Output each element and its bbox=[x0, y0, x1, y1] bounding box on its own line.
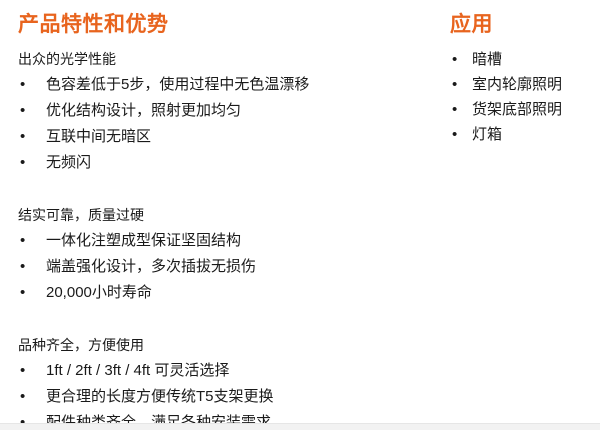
bullet-icon: • bbox=[20, 98, 25, 124]
list-item: • 无频闪 bbox=[18, 150, 428, 176]
bullet-icon: • bbox=[20, 72, 25, 98]
list-item: • 更合理的长度方便传统T5支架更换 bbox=[18, 384, 428, 410]
feature-group-variety: 品种齐全，方便使用 • 1ft / 2ft / 3ft / 4ft 可灵活选择 … bbox=[18, 332, 428, 436]
feature-list-optical: • 色容差低于5步，使用过程中无色温漂移 • 优化结构设计，照射更加均匀 • 互… bbox=[18, 72, 428, 176]
slide-canvas: 产品特性和优势 出众的光学性能 • 色容差低于5步，使用过程中无色温漂移 • 优… bbox=[0, 0, 600, 430]
bullet-icon: • bbox=[20, 228, 25, 254]
list-item-label: 优化结构设计，照射更加均匀 bbox=[46, 102, 241, 119]
list-item-label: 无频闪 bbox=[46, 154, 91, 171]
group-heading: 结实可靠，质量过硬 bbox=[18, 202, 428, 228]
bullet-icon: • bbox=[452, 72, 457, 97]
list-item: • 互联中间无暗区 bbox=[18, 124, 428, 150]
feature-group-durability: 结实可靠，质量过硬 • 一体化注塑成型保证坚固结构 • 端盖强化设计，多次插拔无… bbox=[18, 202, 428, 306]
list-item: • 色容差低于5步，使用过程中无色温漂移 bbox=[18, 72, 428, 98]
features-column: 产品特性和优势 出众的光学性能 • 色容差低于5步，使用过程中无色温漂移 • 优… bbox=[18, 12, 428, 436]
list-item: • 货架底部照明 bbox=[450, 97, 590, 122]
list-item: • 室内轮廓照明 bbox=[450, 72, 590, 97]
list-item: • 端盖强化设计，多次插拔无损伤 bbox=[18, 254, 428, 280]
list-item-label: 灯箱 bbox=[472, 126, 502, 143]
list-item-label: 20,000小时寿命 bbox=[46, 284, 152, 301]
bullet-icon: • bbox=[20, 150, 25, 176]
list-item: • 1ft / 2ft / 3ft / 4ft 可灵活选择 bbox=[18, 358, 428, 384]
list-item-label: 端盖强化设计，多次插拔无损伤 bbox=[46, 258, 256, 275]
list-item-label: 色容差低于5步，使用过程中无色温漂移 bbox=[46, 76, 309, 93]
applications-section-title: 应用 bbox=[450, 12, 590, 38]
bullet-icon: • bbox=[20, 280, 25, 306]
feature-list-durability: • 一体化注塑成型保证坚固结构 • 端盖强化设计，多次插拔无损伤 • 20,00… bbox=[18, 228, 428, 306]
list-item: • 灯箱 bbox=[450, 122, 590, 147]
list-item: • 优化结构设计，照射更加均匀 bbox=[18, 98, 428, 124]
list-item-label: 1ft / 2ft / 3ft / 4ft 可灵活选择 bbox=[46, 362, 229, 379]
list-item: • 一体化注塑成型保证坚固结构 bbox=[18, 228, 428, 254]
applications-column: 应用 • 暗槽 • 室内轮廓照明 • 货架底部照明 • 灯箱 bbox=[450, 12, 590, 147]
bullet-icon: • bbox=[20, 384, 25, 410]
bottom-divider bbox=[0, 423, 600, 430]
bullet-icon: • bbox=[452, 47, 457, 72]
bullet-icon: • bbox=[20, 124, 25, 150]
group-heading: 出众的光学性能 bbox=[18, 46, 428, 72]
bullet-icon: • bbox=[452, 122, 457, 147]
list-item: • 暗槽 bbox=[450, 47, 590, 72]
feature-group-optical: 出众的光学性能 • 色容差低于5步，使用过程中无色温漂移 • 优化结构设计，照射… bbox=[18, 46, 428, 176]
group-heading: 品种齐全，方便使用 bbox=[18, 332, 428, 358]
list-item-label: 更合理的长度方便传统T5支架更换 bbox=[46, 388, 274, 405]
bullet-icon: • bbox=[20, 254, 25, 280]
list-item-label: 暗槽 bbox=[472, 51, 502, 68]
list-item: • 20,000小时寿命 bbox=[18, 280, 428, 306]
list-item-label: 室内轮廓照明 bbox=[472, 76, 562, 93]
bullet-icon: • bbox=[452, 97, 457, 122]
list-item-label: 互联中间无暗区 bbox=[46, 128, 151, 145]
features-section-title: 产品特性和优势 bbox=[18, 12, 428, 38]
bullet-icon: • bbox=[20, 358, 25, 384]
list-item-label: 货架底部照明 bbox=[472, 101, 562, 118]
application-list: • 暗槽 • 室内轮廓照明 • 货架底部照明 • 灯箱 bbox=[450, 47, 590, 147]
list-item-label: 一体化注塑成型保证坚固结构 bbox=[46, 232, 241, 249]
